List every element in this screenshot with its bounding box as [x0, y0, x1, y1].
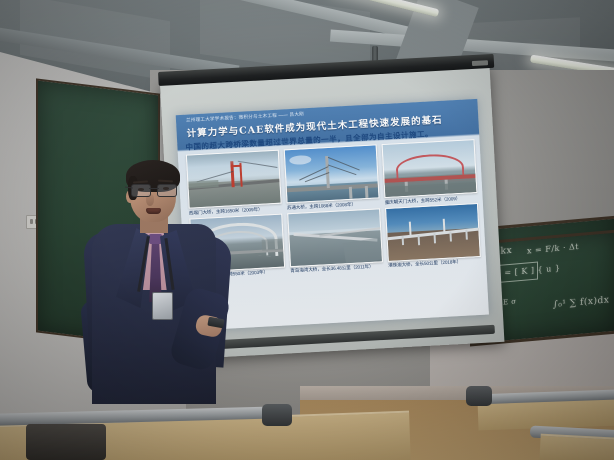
lanyard-badge	[152, 292, 173, 320]
sea-crossing-bridge-photo	[287, 208, 383, 267]
photo-cell: 港珠澳大桥，全长50公里（2018年）	[385, 203, 479, 269]
photo-cell: 青岛海湾大桥，全长36.48公里（2011年）	[287, 208, 381, 274]
lecture-desk-right	[539, 434, 614, 460]
cable-stayed-bridge-photo	[284, 144, 380, 203]
lecture-hall-photo: F = kx x = F/k · Δt [ F ] = [ K ] { u } …	[0, 0, 614, 460]
speaker-eye-right	[163, 187, 169, 190]
speaker-eye-left	[138, 188, 144, 191]
speaker-tie-knot	[149, 234, 162, 244]
desk-bracket-back	[466, 386, 492, 406]
suspension-bridge-photo	[186, 150, 282, 209]
arch-truss-bridge-photo	[382, 139, 478, 198]
screen-roller-cap	[472, 60, 488, 66]
chalk-equation-2: x = F/k · Δt	[527, 242, 579, 256]
speaker-mouth	[146, 208, 161, 214]
photo-cell: 重庆朝天门大桥，主跨552米（2009）	[382, 139, 476, 205]
photo-cell: 西堠门大桥，主跨1650米（2009年）	[186, 150, 280, 216]
photo-row-2: 上海卢浦大桥，主跨550米（2003年） 青岛海湾大桥，全长36.48公里（20…	[189, 203, 480, 280]
hzmb-bridge-photo	[385, 202, 481, 261]
chair-back-left	[26, 424, 106, 460]
photo-cell: 苏通大桥，主跨1088米（2008年）	[284, 144, 378, 210]
chalk-equation-5: ∫₀¹ ∑ f(x)dx	[553, 295, 609, 310]
desk-bracket-front	[262, 404, 292, 426]
